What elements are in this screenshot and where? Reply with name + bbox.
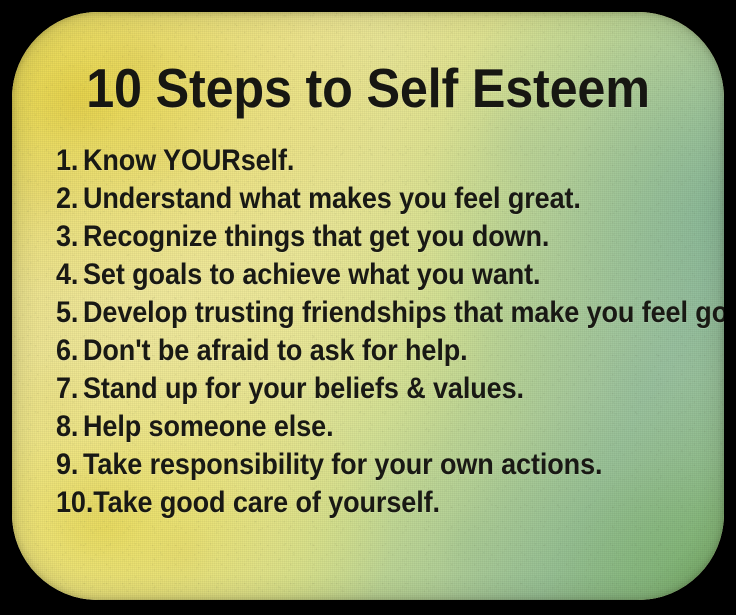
list-item: 6. Don't be afraid to ask for help. [56, 332, 645, 370]
list-item: 4. Set goals to achieve what you want. [56, 256, 645, 294]
list-item-text: Stand up for your beliefs & values. [83, 372, 524, 405]
list-item: 3. Recognize things that get you down. [56, 218, 645, 256]
steps-list: 1. Know YOURself. 2. Understand what mak… [56, 142, 710, 522]
list-item-text: Take responsibility for your own actions… [83, 448, 602, 481]
list-item-number: 6. [56, 332, 83, 370]
list-item: 2. Understand what makes you feel great. [56, 180, 645, 218]
list-item-number: 10. [56, 484, 93, 522]
list-item-text: Help someone else. [83, 410, 333, 443]
poster-card: 10 Steps to Self Esteem 1. Know YOURself… [12, 12, 724, 600]
list-item-text: Don't be afraid to ask for help. [83, 334, 468, 367]
page-title: 10 Steps to Self Esteem [42, 59, 693, 117]
list-item: 8. Help someone else. [56, 408, 645, 446]
list-item: 9. Take responsibility for your own acti… [56, 446, 645, 484]
list-item: 5. Develop trusting friendships that mak… [56, 294, 645, 332]
poster-canvas: 10 Steps to Self Esteem 1. Know YOURself… [0, 0, 736, 615]
list-item: 10. Take good care of yourself. [56, 484, 645, 522]
list-item-number: 9. [56, 446, 83, 484]
list-item-number: 4. [56, 256, 83, 294]
list-item-text: Set goals to achieve what you want. [83, 258, 540, 291]
list-item-text: Take good care of yourself. [93, 486, 440, 519]
list-item-text: Recognize things that get you down. [83, 220, 549, 253]
list-item: 7. Stand up for your beliefs & values. [56, 370, 645, 408]
poster-content: 10 Steps to Self Esteem 1. Know YOURself… [12, 12, 724, 600]
list-item-number: 7. [56, 370, 83, 408]
list-item-text: Know YOURself. [83, 144, 294, 177]
list-item-number: 2. [56, 180, 83, 218]
list-item-number: 3. [56, 218, 83, 256]
list-item-number: 1. [56, 142, 83, 180]
list-item-number: 5. [56, 294, 83, 332]
list-item-text: Understand what makes you feel great. [83, 182, 581, 215]
list-item-text: Develop trusting friendships that make y… [83, 296, 724, 329]
list-item: 1. Know YOURself. [56, 142, 645, 180]
list-item-number: 8. [56, 408, 83, 446]
